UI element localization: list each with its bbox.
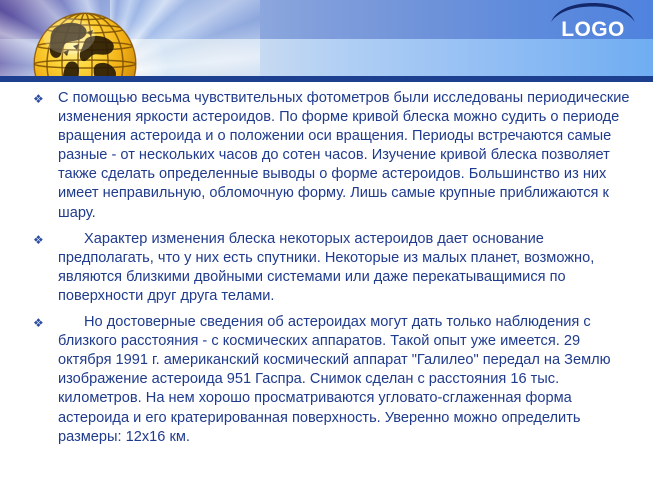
bullet-item: ❖ Но достоверные сведения об астероидах … <box>33 313 631 447</box>
bullet-diamond-icon: ❖ <box>33 89 58 109</box>
slide-header: LOGO <box>0 0 653 82</box>
bullet-item: ❖ С помощью весьма чувствительных фотоме… <box>33 89 631 223</box>
bullet-diamond-icon: ❖ <box>33 230 58 250</box>
bullet-item: ❖ Характер изменения блеска некоторых ас… <box>33 230 631 306</box>
bullet-text: Характер изменения блеска некоторых асте… <box>58 230 631 306</box>
slide-body: ❖ С помощью весьма чувствительных фотоме… <box>33 89 631 454</box>
bullet-diamond-icon: ❖ <box>33 313 58 333</box>
globe-icon <box>29 8 141 82</box>
bullet-text: Но достоверные сведения об астероидах мо… <box>58 313 631 447</box>
header-accent-rule <box>0 76 653 82</box>
presentation-slide: LOGO ❖ С помощью весьма чувствительных ф… <box>0 0 653 490</box>
logo[interactable]: LOGO <box>547 3 639 45</box>
bullet-text: С помощью весьма чувствительных фотометр… <box>58 89 631 223</box>
logo-text: LOGO <box>547 18 639 42</box>
